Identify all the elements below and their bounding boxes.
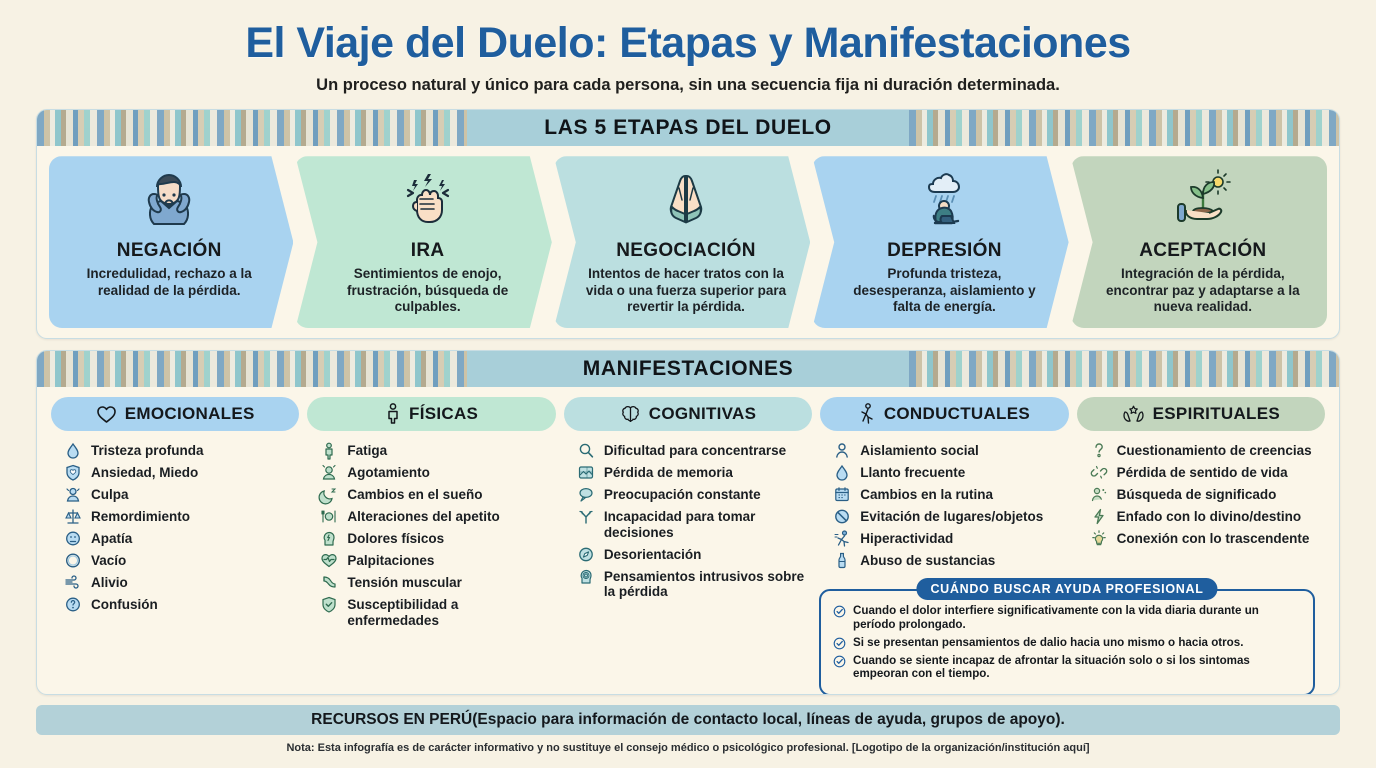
stage-desc: Profunda tristeza, desesperanza, aislami… — [842, 266, 1046, 316]
list-item: Incapacidad para tomar decisiones — [578, 508, 806, 540]
list-item: Alivio — [65, 574, 293, 591]
list-item: Conexión con lo trascendente — [1091, 530, 1319, 547]
list-item: Culpa — [65, 486, 293, 503]
person-under-rain-cloud-icon — [909, 164, 979, 238]
list-item: Evitación de lugares/objetos — [834, 508, 1062, 525]
item-text: Conexión con lo trascendente — [1117, 530, 1310, 547]
column-label: FÍSICAS — [409, 404, 478, 424]
item-text: Incapacidad para tomar decisiones — [604, 508, 806, 540]
item-text: Ansiedad, Miedo — [91, 464, 198, 481]
textile-fade-right — [819, 351, 909, 387]
item-text: Cambios en el sueño — [347, 486, 482, 503]
items-list-fisicas: Fatiga Agotamiento Cambios en el sueño A… — [307, 431, 555, 628]
human-body-icon — [385, 403, 401, 425]
item-text: Remordimiento — [91, 508, 190, 525]
hand-holding-sprout-icon — [1168, 164, 1238, 238]
hands-star-icon — [1122, 404, 1145, 425]
item-text: Aislamiento social — [860, 442, 979, 459]
stage-card-negacion[interactable]: NEGACIÓN Incredulidad, rechazo a la real… — [49, 156, 293, 328]
fading-photo-icon — [578, 464, 596, 481]
wind-icon — [65, 574, 83, 591]
column-label: ESPIRITUALES — [1153, 404, 1280, 424]
stage-name: ACEPTACIÓN — [1139, 240, 1266, 262]
list-item: Aislamiento social — [834, 442, 1062, 459]
radiant-light-icon — [1091, 530, 1109, 547]
list-item: Ansiedad, Miedo — [65, 464, 293, 481]
single-person-icon — [834, 442, 852, 459]
column-label: EMOCIONALES — [125, 404, 255, 424]
list-item: Abuso de sustancias — [834, 552, 1062, 569]
stage-name: NEGACIÓN — [117, 240, 222, 262]
exhausted-person-icon — [321, 464, 339, 481]
stage-desc: Sentimientos de enojo, frustración, búsq… — [325, 266, 529, 316]
item-text: Pérdida de sentido de vida — [1117, 464, 1288, 481]
item-text: Dolores físicos — [347, 530, 444, 547]
help-item-text: Cuando se siente incapaz de afrontar la … — [853, 654, 1303, 681]
thought-bubble-icon — [578, 486, 596, 503]
textile-fade-right — [819, 110, 909, 146]
scales-icon — [65, 508, 83, 525]
question-mark-icon — [1091, 442, 1109, 459]
list-item: Búsqueda de significado — [1091, 486, 1319, 503]
list-item: Apatía — [65, 530, 293, 547]
item-text: Palpitaciones — [347, 552, 434, 569]
list-item: Dificultad para concentrarse — [578, 442, 806, 459]
check-circle-icon — [833, 637, 846, 650]
stage-name: IRA — [411, 240, 445, 262]
empty-circle-icon — [65, 552, 83, 569]
column-label: COGNITIVAS — [649, 404, 757, 424]
footer-note: Nota: Esta infografía es de carácter inf… — [0, 735, 1376, 754]
person-covering-ears-icon — [134, 164, 204, 238]
andean-textile-pattern-right — [909, 351, 1339, 387]
stage-card-depresion[interactable]: DEPRESIÓN Profunda tristeza, desesperanz… — [812, 156, 1068, 328]
neutral-face-icon — [65, 530, 83, 547]
item-text: Evitación de lugares/objetos — [860, 508, 1043, 525]
list-item: Pensamientos intrusivos sobre la pérdida — [578, 568, 806, 600]
manifestations-band: MANIFESTACIONES — [37, 351, 1339, 387]
column-cognitivas: COGNITIVAS Dificultad para concentrarse … — [564, 397, 812, 633]
list-item: Enfado con lo divino/destino — [1091, 508, 1319, 525]
magnifier-icon — [578, 442, 596, 459]
prohibition-icon — [834, 508, 852, 525]
page-title: El Viaje del Duelo: Etapas y Manifestaci… — [0, 0, 1376, 67]
walking-person-icon — [859, 403, 876, 425]
item-text: Pérdida de memoria — [604, 464, 733, 481]
broken-link-icon — [1091, 464, 1109, 481]
items-list-emocionales: Tristeza profunda Ansiedad, Miedo Culpa … — [51, 431, 299, 613]
item-text: Susceptibilidad a enfermedades — [347, 596, 549, 628]
item-text: Abuso de sustancias — [860, 552, 995, 569]
help-item-text: Si se presentan pensamientos de dalio ha… — [853, 636, 1243, 650]
heart-pulse-icon — [321, 552, 339, 569]
check-circle-icon — [833, 655, 846, 681]
head-pain-icon — [321, 530, 339, 547]
shield-check-icon — [321, 596, 339, 613]
lightning-bolt-icon — [1091, 508, 1109, 525]
list-item: Hiperactividad — [834, 530, 1062, 547]
stage-desc: Integración de la pérdida, encontrar paz… — [1101, 266, 1305, 316]
stage-desc: Incredulidad, rechazo a la realidad de l… — [67, 266, 271, 299]
head-spiral-icon — [578, 568, 596, 585]
check-circle-icon — [833, 605, 846, 631]
stages-band: LAS 5 ETAPAS DEL DUELO — [37, 110, 1339, 146]
items-list-espirituales: Cuestionamiento de creencias Pérdida de … — [1077, 431, 1325, 547]
flexed-arm-icon — [321, 574, 339, 591]
help-list-item: Cuando el dolor interfiere significativa… — [833, 604, 1303, 631]
column-header-espirituales[interactable]: ESPIRITUALES — [1077, 397, 1325, 431]
question-mark-circle-icon — [65, 596, 83, 613]
list-item: Desorientación — [578, 546, 806, 563]
items-list-conductuales: Aislamiento social Llanto frecuente Camb… — [820, 431, 1068, 569]
stages-row: NEGACIÓN Incredulidad, rechazo a la real… — [37, 146, 1339, 339]
teardrop-icon — [834, 464, 852, 481]
item-text: Confusión — [91, 596, 158, 613]
list-item: Vacío — [65, 552, 293, 569]
compass-icon — [578, 546, 596, 563]
page-subtitle: Un proceso natural y único para cada per… — [0, 67, 1376, 95]
bottle-icon — [834, 552, 852, 569]
item-text: Llanto frecuente — [860, 464, 965, 481]
fork-path-icon — [578, 508, 596, 525]
list-item: Cambios en el sueño — [321, 486, 549, 503]
calendar-icon — [834, 486, 852, 503]
item-text: Tristeza profunda — [91, 442, 204, 459]
professional-help-title: CUÁNDO BUSCAR AYUDA PROFESIONAL — [916, 578, 1217, 600]
resources-label-rest: (Espacio para información de contacto lo… — [472, 711, 1065, 729]
list-item: Pérdida de sentido de vida — [1091, 464, 1319, 481]
list-item: Preocupación constante — [578, 486, 806, 503]
andean-textile-pattern-left — [37, 351, 467, 387]
andean-textile-pattern-left — [37, 110, 467, 146]
praying-hands-icon — [651, 164, 721, 238]
heart-icon — [96, 404, 117, 424]
help-item-text: Cuando el dolor interfiere significativa… — [853, 604, 1303, 631]
item-text: Búsqueda de significado — [1117, 486, 1277, 503]
list-item: Agotamiento — [321, 464, 549, 481]
help-list-item: Cuando se siente incapaz de afrontar la … — [833, 654, 1303, 681]
item-text: Agotamiento — [347, 464, 430, 481]
stage-desc: Intentos de hacer tratos con la vida o u… — [584, 266, 788, 316]
item-text: Tensión muscular — [347, 574, 462, 591]
list-item: Tristeza profunda — [65, 442, 293, 459]
stage-card-negociacion[interactable]: NEGOCIACIÓN Intentos de hacer tratos con… — [554, 156, 810, 328]
items-list-cognitivas: Dificultad para concentrarse Pérdida de … — [564, 431, 812, 600]
andean-textile-pattern-right — [909, 110, 1339, 146]
stage-name: DEPRESIÓN — [887, 240, 1002, 262]
item-text: Preocupación constante — [604, 486, 761, 503]
column-header-cognitivas[interactable]: COGNITIVAS — [564, 397, 812, 431]
resources-label-bold: RECURSOS EN PERÚ — [311, 711, 472, 729]
teardrop-icon — [65, 442, 83, 459]
list-item: Remordimiento — [65, 508, 293, 525]
column-emocionales: EMOCIONALES Tristeza profunda Ansiedad, … — [51, 397, 299, 633]
textile-fade-left — [467, 351, 557, 387]
stage-name: NEGOCIACIÓN — [616, 240, 755, 262]
stages-band-title: LAS 5 ETAPAS DEL DUELO — [544, 116, 831, 140]
item-text: Cambios en la rutina — [860, 486, 993, 503]
item-text: Pensamientos intrusivos sobre la pérdida — [604, 568, 806, 600]
item-text: Fatiga — [347, 442, 387, 459]
tired-person-icon — [321, 442, 339, 459]
list-item: Confusión — [65, 596, 293, 613]
list-item: Alteraciones del apetito — [321, 508, 549, 525]
list-item: Cambios en la rutina — [834, 486, 1062, 503]
clenched-fist-lightning-icon — [393, 164, 463, 238]
stages-panel: LAS 5 ETAPAS DEL DUELO NEGACIÓN Incredul… — [36, 109, 1340, 339]
item-text: Vacío — [91, 552, 126, 569]
item-text: Apatía — [91, 530, 132, 547]
list-item: Fatiga — [321, 442, 549, 459]
moon-sleep-icon — [321, 486, 339, 503]
item-text: Culpa — [91, 486, 129, 503]
item-text: Desorientación — [604, 546, 702, 563]
list-item: Palpitaciones — [321, 552, 549, 569]
item-text: Dificultad para concentrarse — [604, 442, 786, 459]
column-header-emocionales[interactable]: EMOCIONALES — [51, 397, 299, 431]
column-fisicas: FÍSICAS Fatiga Agotamiento Cambios en el… — [307, 397, 555, 633]
professional-help-box: CUÁNDO BUSCAR AYUDA PROFESIONAL Cuando e… — [819, 589, 1315, 695]
list-item: Dolores físicos — [321, 530, 549, 547]
brain-icon — [620, 404, 641, 425]
manifestations-panel: MANIFESTACIONES EMOCIONALES Tristeza pro… — [36, 350, 1340, 695]
shield-heart-icon — [65, 464, 83, 481]
item-text: Cuestionamiento de creencias — [1117, 442, 1312, 459]
searching-person-icon — [1091, 486, 1109, 503]
column-label: CONDUCTUALES — [884, 404, 1030, 424]
stage-card-aceptacion[interactable]: ACEPTACIÓN Integración de la pérdida, en… — [1071, 156, 1327, 328]
list-item: Pérdida de memoria — [578, 464, 806, 481]
manifestations-band-title: MANIFESTACIONES — [583, 357, 793, 381]
item-text: Enfado con lo divino/destino — [1117, 508, 1302, 525]
help-list-item: Si se presentan pensamientos de dalio ha… — [833, 636, 1303, 650]
column-header-conductuales[interactable]: CONDUCTUALES — [820, 397, 1068, 431]
item-text: Hiperactividad — [860, 530, 953, 547]
running-person-icon — [834, 530, 852, 547]
stage-card-ira[interactable]: IRA Sentimientos de enojo, frustración, … — [295, 156, 551, 328]
list-item: Cuestionamiento de creencias — [1091, 442, 1319, 459]
item-text: Alivio — [91, 574, 128, 591]
list-item: Llanto frecuente — [834, 464, 1062, 481]
column-header-fisicas[interactable]: FÍSICAS — [307, 397, 555, 431]
person-guilt-icon — [65, 486, 83, 503]
resources-band: RECURSOS EN PERÚ (Espacio para informaci… — [36, 705, 1340, 735]
plate-cutlery-icon — [321, 508, 339, 525]
list-item: Tensión muscular — [321, 574, 549, 591]
item-text: Alteraciones del apetito — [347, 508, 499, 525]
list-item: Susceptibilidad a enfermedades — [321, 596, 549, 628]
